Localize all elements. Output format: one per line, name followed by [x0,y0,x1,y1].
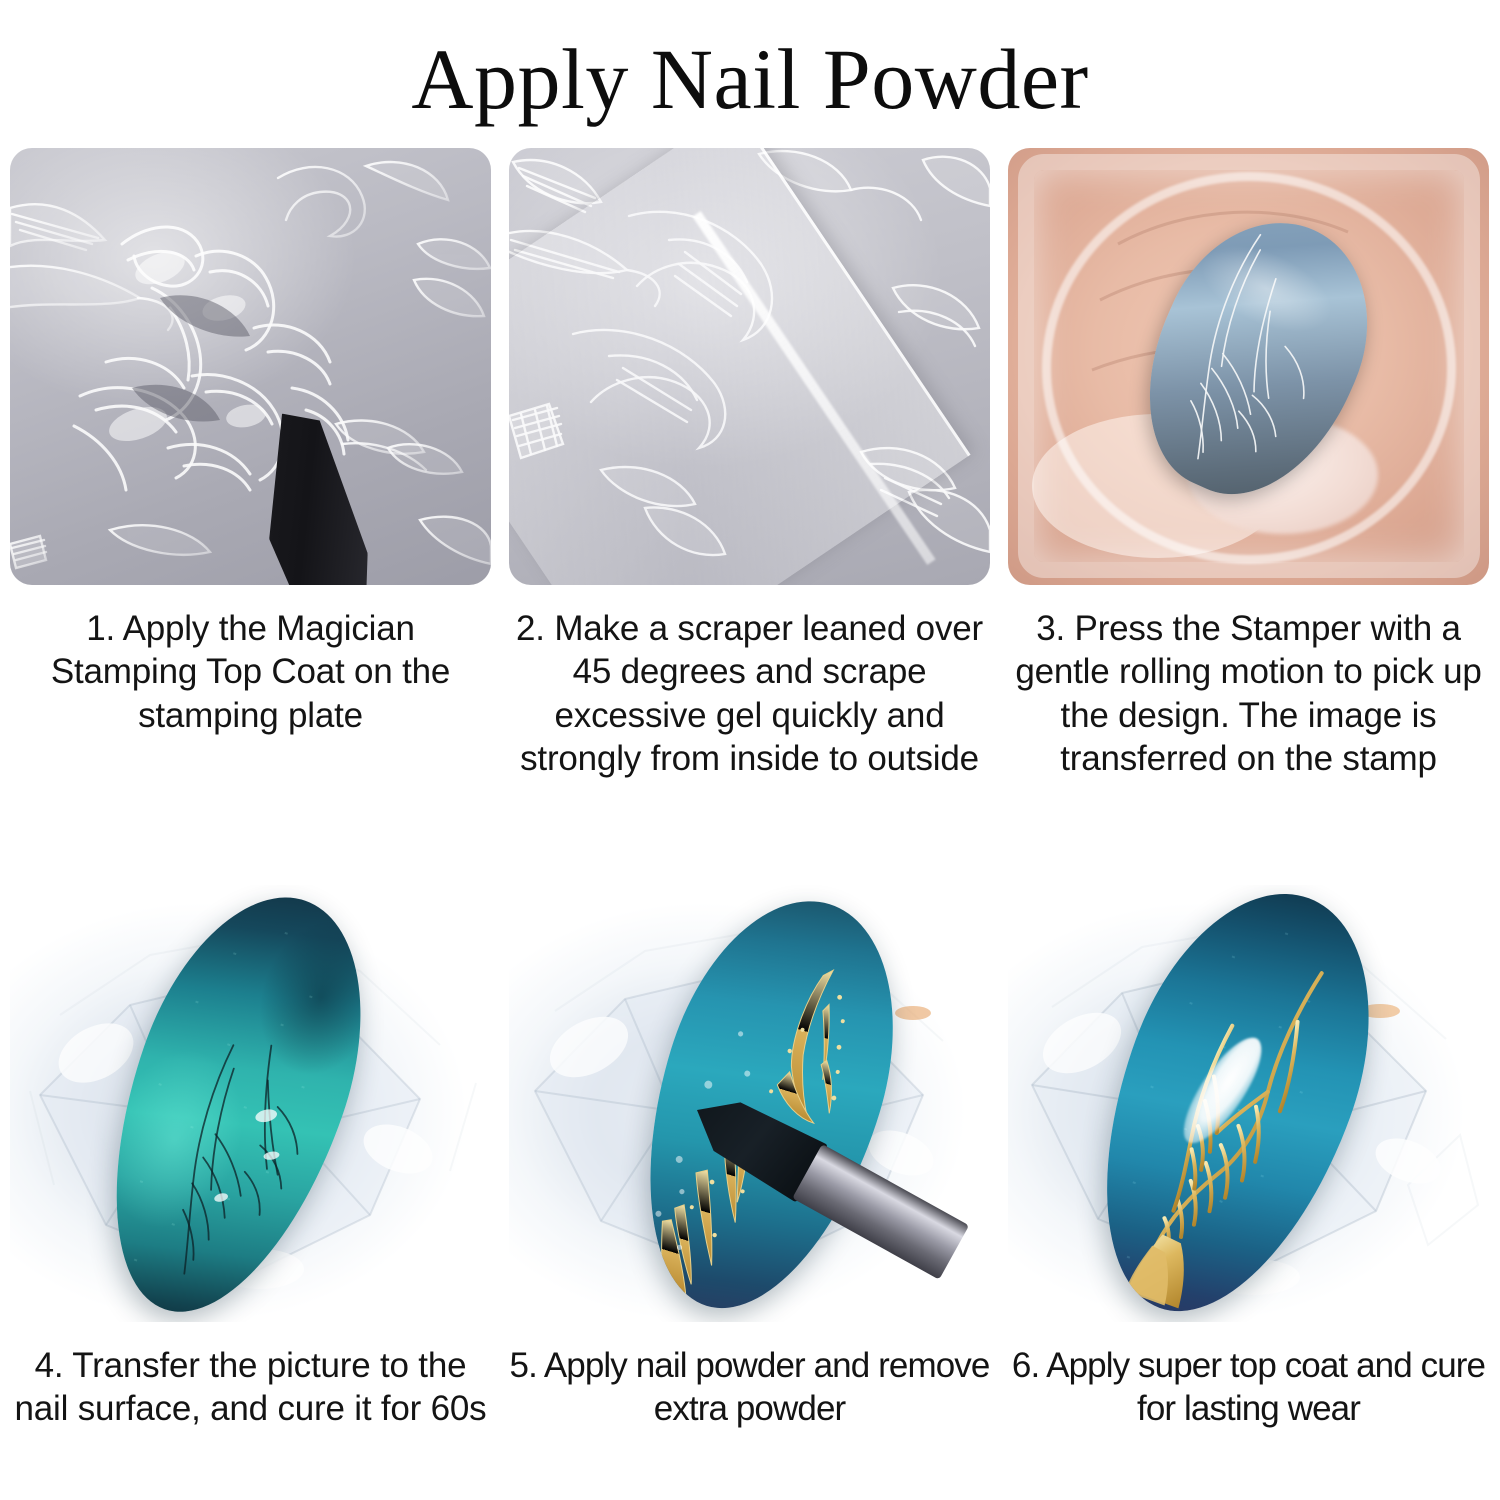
step-card-2: 2. Make a scraper leaned over 45 degrees… [509,148,990,781]
step-card-3: 3. Press the Stamper with a gentle rolli… [1008,148,1489,781]
steps-row-top: 1. Apply the Magician Stamping Top Coat … [10,148,1490,781]
applying-gold-powder-photo [509,885,990,1322]
stamper-pickup-photo [1008,148,1489,585]
page-title: Apply Nail Powder [0,36,1500,122]
stamping-plate-with-gel-photo [10,148,491,585]
steps-row-bottom: 4. Transfer the picture to the nail surf… [10,885,1490,1431]
step-caption-1: 1. Apply the Magician Stamping Top Coat … [10,607,491,737]
engraved-feather-pattern-icon [10,148,491,585]
step-caption-6: 6. Apply super top coat and cure for las… [1008,1344,1489,1431]
finished-gold-feather-nail-photo [1008,885,1489,1322]
step-caption-2: 2. Make a scraper leaned over 45 degrees… [509,607,990,781]
step-card-5: 5. Apply nail powder and remove extra po… [509,885,990,1431]
scraper-on-plate-photo [509,148,990,585]
step-caption-3: 3. Press the Stamper with a gentle rolli… [1008,607,1489,781]
step-card-4: 4. Transfer the picture to the nail surf… [10,885,491,1431]
infographic-page: Apply Nail Powder [0,0,1500,1500]
step-card-1: 1. Apply the Magician Stamping Top Coat … [10,148,491,781]
step-caption-5: 5. Apply nail powder and remove extra po… [509,1344,990,1431]
teal-nail-transferred-design-photo [10,885,491,1322]
step-card-6: 6. Apply super top coat and cure for las… [1008,885,1489,1431]
step-caption-4: 4. Transfer the picture to the nail surf… [10,1344,491,1431]
